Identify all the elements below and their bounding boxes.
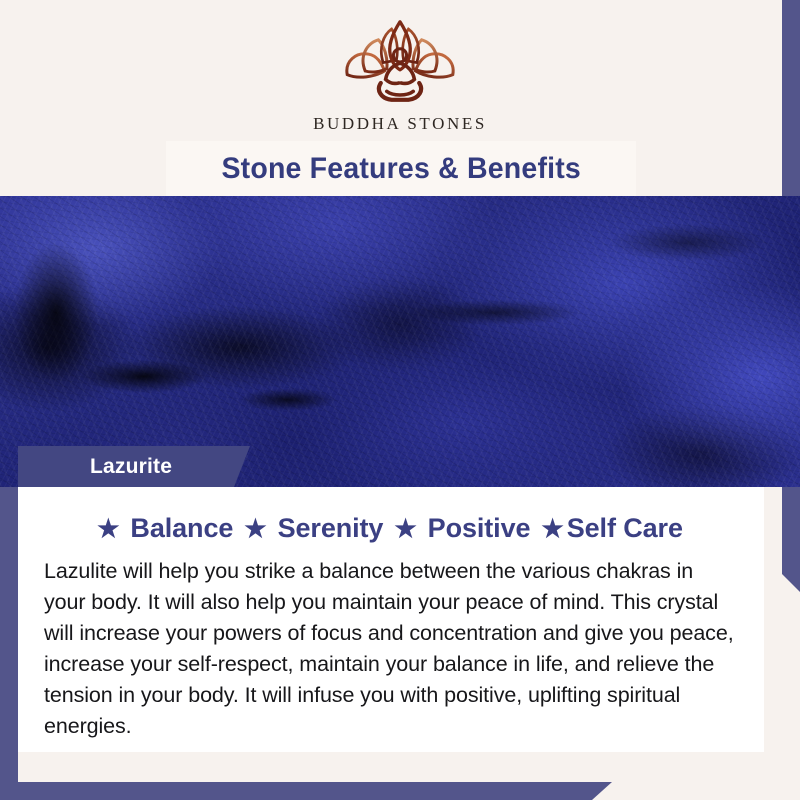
keyword-balance: Balance [130, 513, 233, 543]
star-icon-3: ★ [394, 515, 416, 543]
brand-logo: BUDDHA STONES [18, 16, 782, 134]
stone-photo-crevices [0, 196, 800, 487]
decor-bottom-bar [0, 782, 612, 800]
page-title: Stone Features & Benefits [221, 152, 581, 186]
stone-photo [0, 196, 800, 487]
stone-name-banner: Lazurite [18, 446, 250, 487]
star-icon-4: ★ [541, 515, 563, 543]
stone-description: Lazulite will help you strike a balance … [36, 556, 746, 742]
lotus-meditation-logo-icon [334, 16, 466, 108]
stone-name: Lazurite [18, 455, 172, 479]
brand-name: BUDDHA STONES [313, 114, 487, 134]
page-title-plate: Stone Features & Benefits [166, 141, 636, 196]
star-icon-1: ★ [97, 515, 119, 543]
keyword-positive: Positive [428, 513, 531, 543]
poster-canvas: BUDDHA STONES Stone Features & Benefits … [0, 0, 800, 800]
keyword-self-care: Self Care [567, 513, 683, 543]
content-card: ★Balance★Serenity★Positive★Self Care Laz… [18, 487, 764, 752]
keyword-serenity: Serenity [278, 513, 384, 543]
star-icon-2: ★ [244, 515, 266, 543]
keyword-list: ★Balance★Serenity★Positive★Self Care [36, 513, 746, 544]
